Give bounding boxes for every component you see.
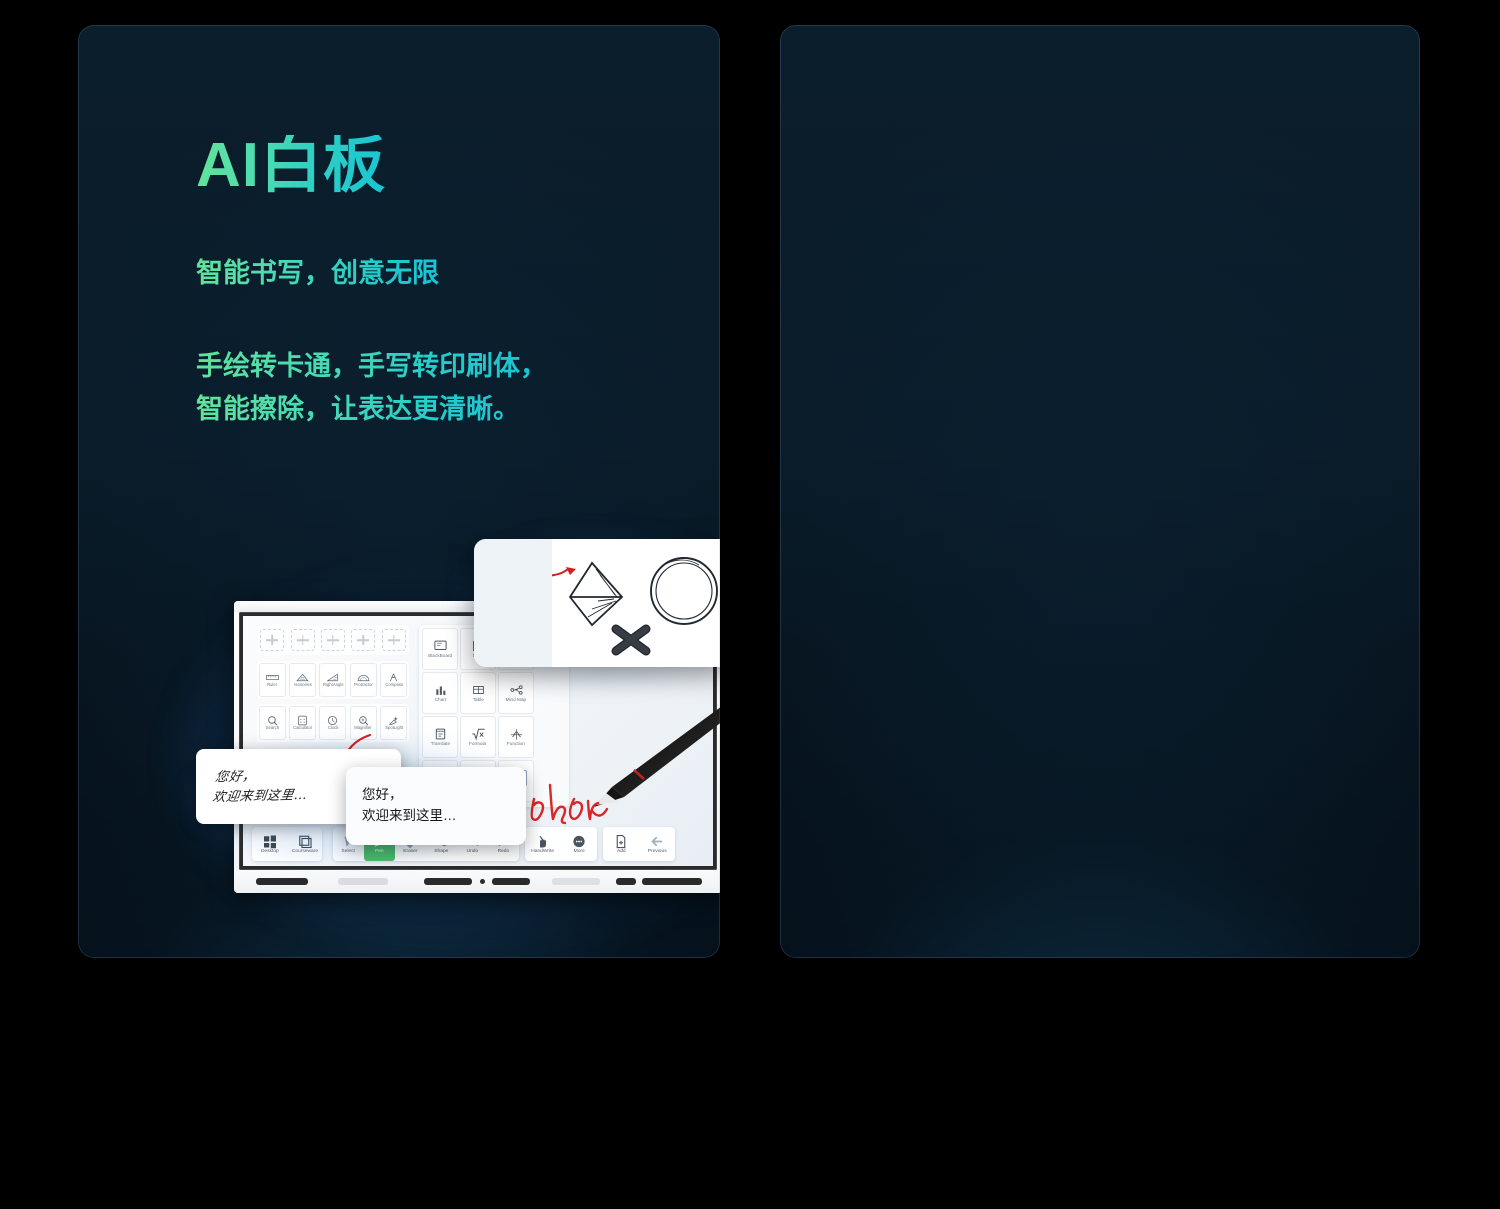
- page-title-left: AI白板: [196, 135, 386, 197]
- tool-label: Mind Map: [506, 699, 527, 704]
- chart-icon: [433, 683, 448, 697]
- tool-label: Ruler: [267, 684, 277, 688]
- previous-arrow-icon: [649, 834, 665, 849]
- tool-label: BlackBoard: [428, 655, 452, 660]
- add-page-icon: [613, 834, 629, 849]
- recognized-text: 您好， 欢迎来到这里…: [362, 785, 526, 826]
- measure-tool-row: Ruler Isosceles RightAngle: [257, 661, 409, 699]
- tool-blackboard[interactable]: BlackBoard: [422, 628, 458, 670]
- tool-ruler[interactable]: Ruler: [259, 663, 286, 697]
- tool-label: Protractor: [354, 684, 373, 688]
- toolbar-button-previous[interactable]: Previous: [639, 827, 675, 861]
- add-slot-icon[interactable]: [260, 629, 284, 651]
- body-text-left: 手绘转卡通，手写转印刷体， 智能擦除，让表达更清晰。: [196, 345, 547, 431]
- tool-label: RightAngle: [323, 684, 344, 688]
- chin-port-group: [256, 878, 308, 885]
- toolbar-label: Add: [617, 850, 626, 855]
- toolbar-label: Previous: [648, 850, 667, 855]
- add-slot-icon[interactable]: [351, 629, 375, 651]
- sketch-to-cartoon-card: [474, 539, 720, 667]
- chin-port-group: [642, 878, 702, 885]
- feature-card-ai-picture-quality: AI画质增强 清晰画质，细节尽显 视频、图片自动优化， 课堂演示直观，会议展示震…: [780, 25, 1420, 958]
- subtitle-left: 智能书写，创意无限: [196, 257, 439, 291]
- function-icon: [509, 727, 524, 741]
- toolbar-label: More: [573, 850, 584, 855]
- tool-chart[interactable]: Chart: [422, 672, 458, 714]
- tool-rightangle[interactable]: RightAngle: [319, 663, 346, 697]
- add-slot-icon[interactable]: [382, 629, 406, 651]
- tool-isosceles[interactable]: Isosceles: [289, 663, 316, 697]
- whiteboard-device-illustration: Ruler Isosceles RightAngle: [228, 597, 720, 917]
- page-root: AI白板 智能书写，创意无限 手绘转卡通，手写转印刷体， 智能擦除，让表达更清晰…: [0, 0, 1500, 1209]
- tool-label: Table: [472, 699, 483, 704]
- add-slot-row: [257, 625, 409, 655]
- toolbar-pages: Add Previous: [603, 827, 675, 861]
- chin-port-group: [338, 878, 388, 885]
- add-slot-icon[interactable]: [321, 629, 345, 651]
- tool-label: Isosceles: [294, 684, 312, 688]
- add-slot-icon[interactable]: [291, 629, 315, 651]
- handwrite-icon: [535, 834, 551, 849]
- blackboard-icon: [433, 639, 448, 653]
- chin-port-group: [552, 878, 600, 885]
- chin-port-group: [492, 878, 530, 885]
- chin-port-group: [424, 878, 472, 885]
- feature-card-ai-whiteboard: AI白板 智能书写，创意无限 手绘转卡通，手写转印刷体， 智能擦除，让表达更清晰…: [78, 25, 720, 958]
- handwriting-note-text: 您好， 欢迎来到这里…: [211, 766, 311, 807]
- tool-protractor[interactable]: Protractor: [350, 663, 377, 697]
- recognized-text-card: 您好， 欢迎来到这里…: [346, 767, 526, 845]
- toolbar-label: HandWrite: [532, 850, 555, 855]
- tool-label: Compass: [385, 684, 403, 688]
- chin-usb-port: [616, 878, 636, 885]
- sketch-before-area: [474, 539, 552, 667]
- chin-indicator: [480, 879, 485, 884]
- tool-label: Calculator: [293, 727, 312, 731]
- tool-label: Search: [265, 727, 278, 731]
- tool-label: Chart: [434, 699, 445, 704]
- tool-compass[interactable]: Compass: [380, 663, 407, 697]
- device-chin: [234, 870, 720, 893]
- more-dots-icon: [571, 834, 587, 849]
